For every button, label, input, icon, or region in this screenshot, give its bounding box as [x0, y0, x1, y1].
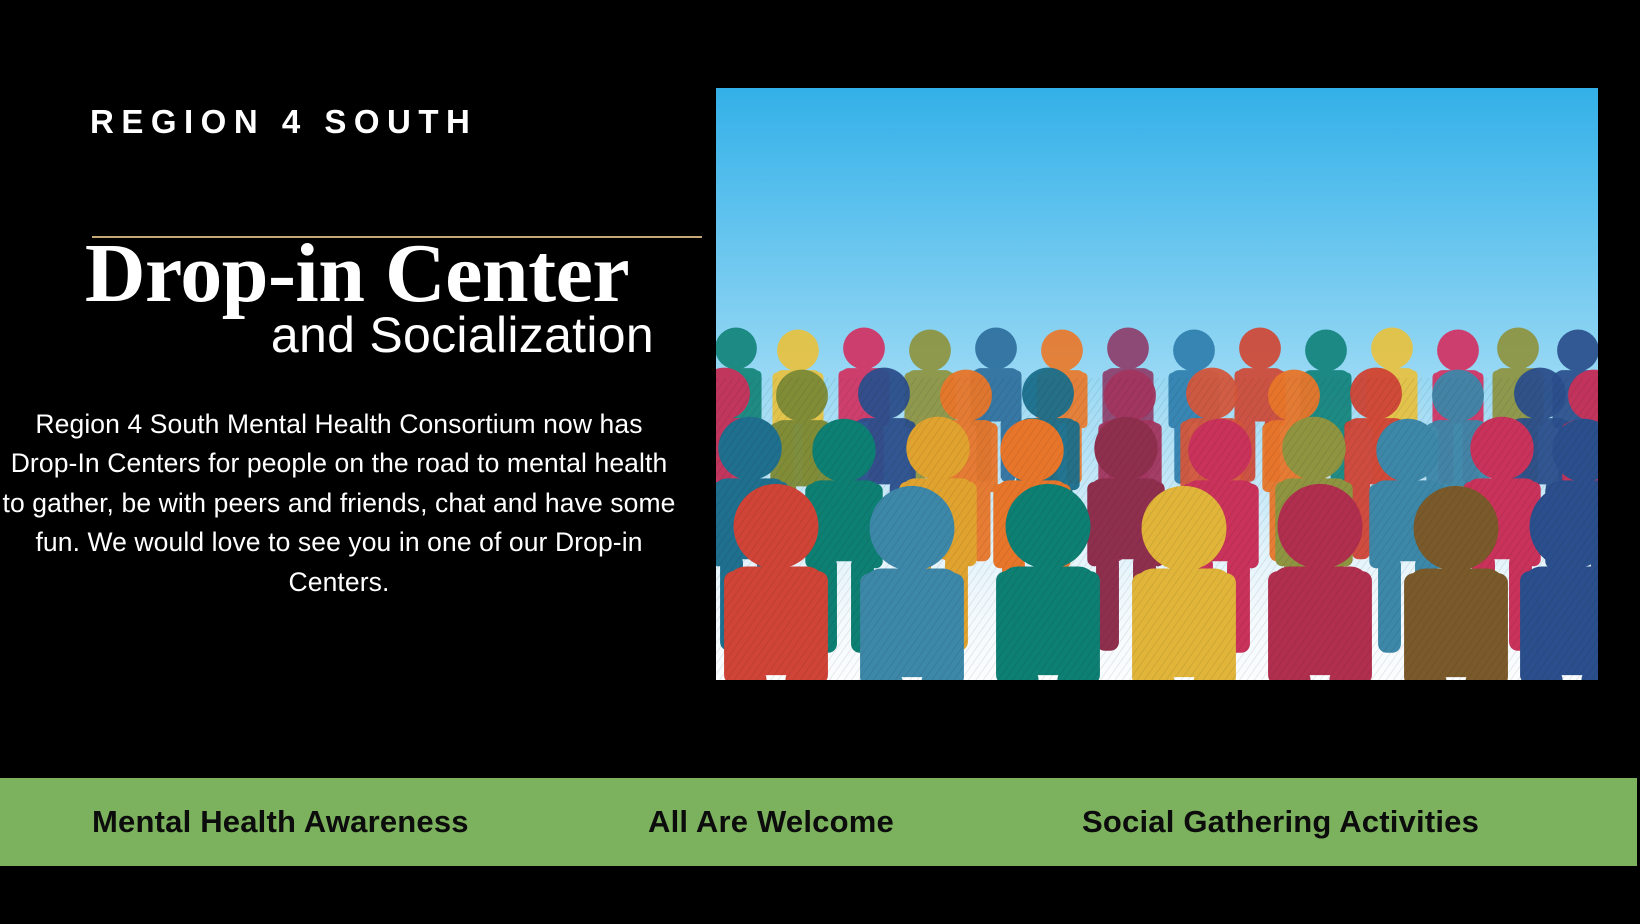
footer-bar: Mental Health Awareness All Are Welcome …	[0, 778, 1637, 866]
body-paragraph: Region 4 South Mental Health Consortium …	[0, 405, 678, 602]
title-block: Drop-in Center and Socialization	[0, 232, 702, 360]
footer-item-mental-health-awareness: Mental Health Awareness	[92, 804, 469, 840]
page-title: Drop-in Center	[0, 232, 702, 316]
poster-canvas: REGION 4 SOUTH Drop-in Center and Social…	[0, 0, 1640, 924]
crowd-people-icon	[716, 88, 1598, 680]
crowd-illustration	[716, 88, 1598, 680]
eyebrow-heading: REGION 4 SOUTH	[90, 104, 477, 140]
bottom-black-band	[0, 866, 1640, 924]
left-text-column: REGION 4 SOUTH Drop-in Center and Social…	[0, 0, 706, 778]
footer-item-all-are-welcome: All Are Welcome	[648, 804, 894, 840]
footer-item-social-gathering-activities: Social Gathering Activities	[1082, 804, 1479, 840]
